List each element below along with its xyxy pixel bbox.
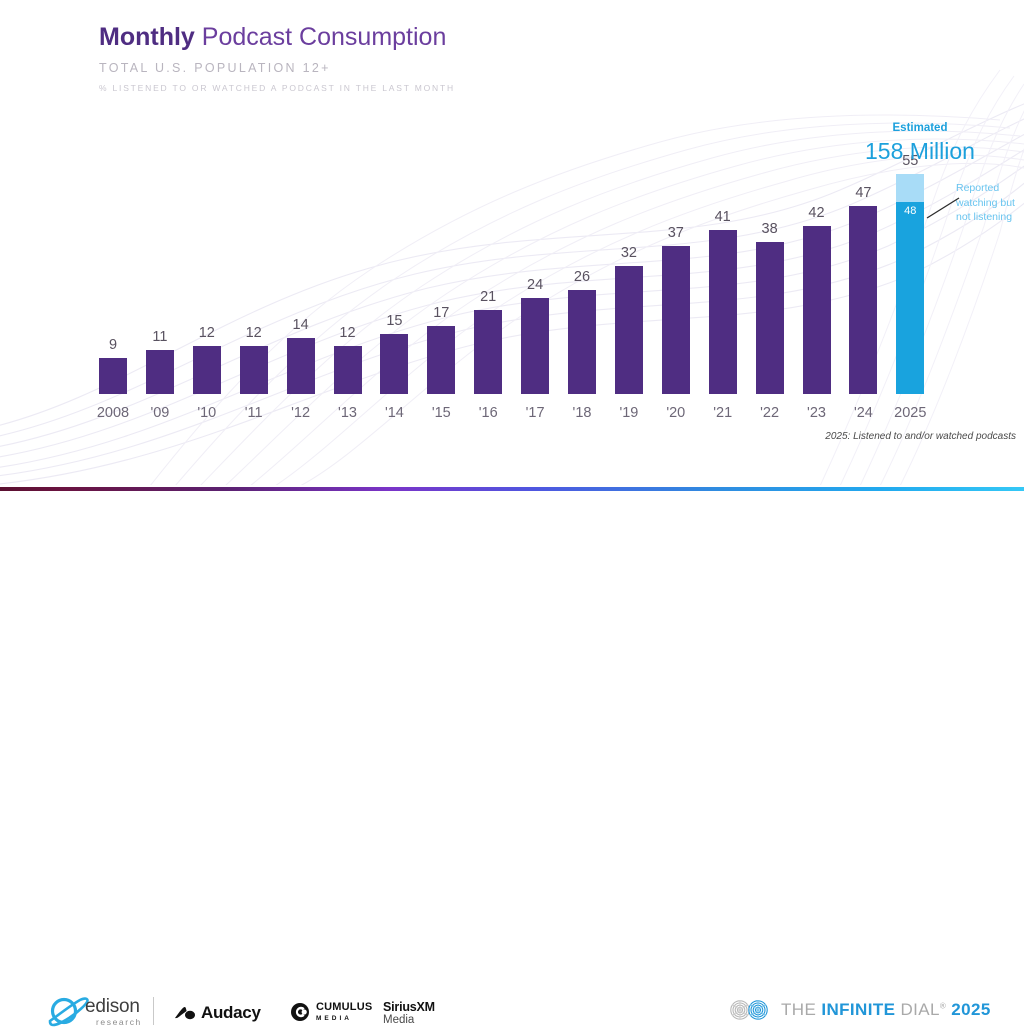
annotation-watching-not-listening: Reported watching but not listening [956,181,1024,225]
cumulus-sub: MEDIA [316,1015,372,1022]
bar-value-22: 38 [740,221,800,237]
bar-10[interactable] [193,346,221,394]
cumulus-wordmark: CUMULUS MEDIA [316,1002,372,1022]
bar-18[interactable] [568,290,596,394]
audacy-name: Audacy [201,1003,261,1023]
id-year: 2025 [946,1000,991,1019]
estimated-label: Estimated [864,122,976,134]
edison-research-logo: edison research [47,996,142,1028]
bar-value-20: 37 [646,225,706,241]
id-dial: DIAL [895,1000,940,1019]
bar-segment-watched-only[interactable] [896,174,924,202]
bar-17[interactable] [521,298,549,394]
bar-inner-value-listened: 48 [896,205,924,217]
x-axis-label-2025: 2025 [875,405,945,421]
bar-12[interactable] [287,338,315,394]
bar-23[interactable] [803,226,831,394]
bar-20[interactable] [662,246,690,394]
bar-14[interactable] [380,334,408,394]
infinite-dial-rings-icon [728,999,772,1021]
chart-footnote: 2025: Listened to and/or watched podcast… [700,431,1016,442]
bar-22[interactable] [756,242,784,394]
edison-sub: research [96,1017,142,1027]
bar-11[interactable] [240,346,268,394]
infinite-dial-wordmark: THE INFINITE DIAL® 2025 [781,1000,991,1020]
footer-divider [153,997,154,1025]
edison-name: edison [85,997,142,1016]
cumulus-c-icon [290,1002,310,1022]
bar-value-24: 47 [833,185,893,201]
bar-value-19: 32 [599,245,659,261]
bar-09[interactable] [146,350,174,394]
bar-value-18: 26 [552,269,612,285]
infinite-dial-logo: THE INFINITE DIAL® 2025 [728,999,991,1021]
audacy-mark-icon [174,1004,196,1022]
bar-16[interactable] [474,310,502,394]
bar-segment-listened[interactable] [896,202,924,394]
siriusxm-sub: Media [383,1014,435,1027]
bar-value-23: 42 [787,205,847,221]
audacy-logo: Audacy [174,1003,261,1023]
estimated-value: 158 Million [840,138,1000,165]
bar-19[interactable] [615,266,643,394]
cumulus-name: CUMULUS [316,1002,372,1013]
bar-13[interactable] [334,346,362,394]
edison-planet-icon [47,996,89,1028]
footer-bar: edison research Audacy CUMULUS MEDIA Sir… [0,491,1024,540]
bar-24[interactable] [849,206,877,394]
bar-15[interactable] [427,326,455,394]
bar-21[interactable] [709,230,737,394]
id-the: THE [781,1000,821,1019]
edison-wordmark: edison research [85,997,142,1027]
cumulus-media-logo: CUMULUS MEDIA [290,1002,372,1022]
bar-2008[interactable] [99,358,127,394]
bar-value-15: 17 [411,305,471,321]
id-infinite: INFINITE [821,1000,895,1019]
siriusxm-media-logo: SiriusXM Media [383,1001,435,1027]
bar-chart-plot: 9200811'0912'1012'1114'1212'1315'1417'15… [0,0,1024,485]
siriusxm-name: SiriusXM [383,1001,435,1014]
